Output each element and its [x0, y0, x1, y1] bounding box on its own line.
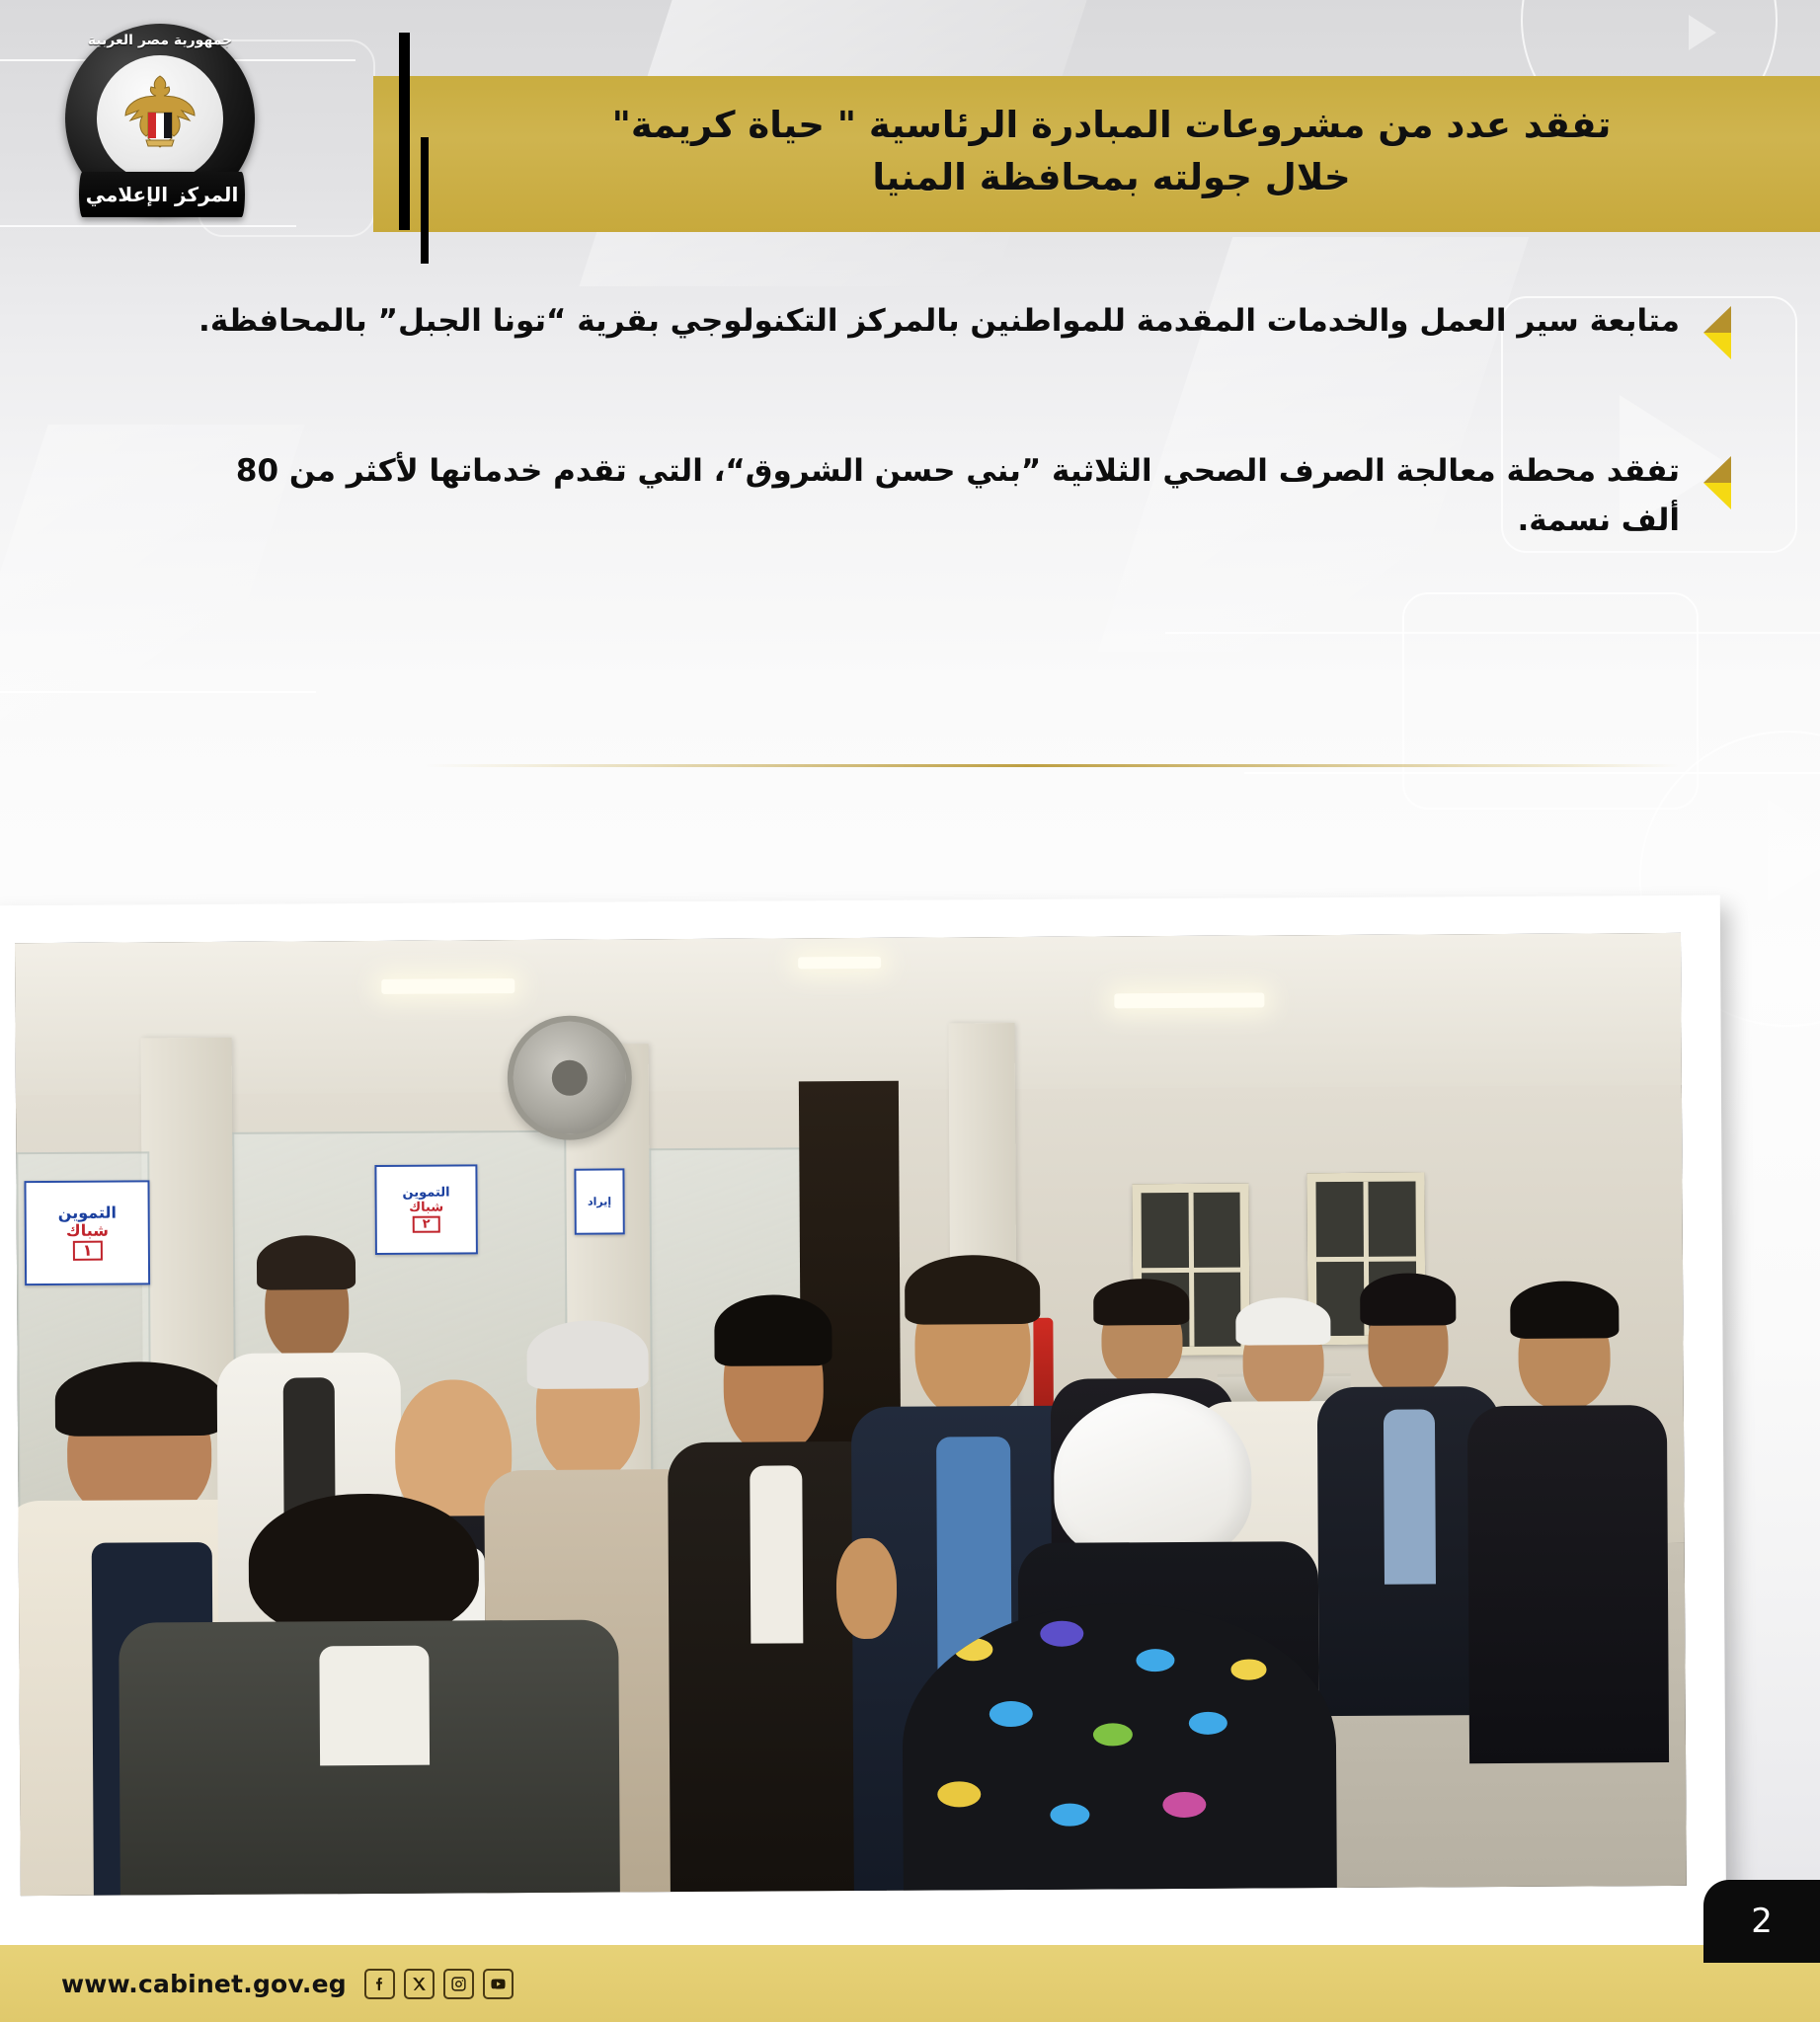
bullet-list: متابعة سير العمل والخدمات المقدمة للمواط… [0, 296, 1820, 545]
sign-window-number: ٢ [413, 1216, 440, 1233]
sign-window-number: ١ [73, 1241, 103, 1261]
logo-ring-top-text: جمهورية مصر العربية [65, 33, 255, 48]
title-line-2: خلال جولته بمحافظة المنيا [872, 152, 1350, 204]
youtube-icon[interactable] [483, 1969, 514, 1999]
page-number-badge: 2 [1703, 1880, 1820, 1963]
photo-frame: التموين شباك ١ التموين شباك ٢ إيراد [0, 895, 1726, 1958]
sign-window-label: شباك [409, 1202, 443, 1214]
person-polka-dot-abaya [902, 1602, 1336, 1891]
footer-bar: www.cabinet.gov.eg [0, 1945, 1820, 2022]
title-line-1: تفقد عدد من مشروعات المبادرة الرئاسية " … [612, 100, 1612, 152]
counter-sign: إيراد [575, 1168, 625, 1235]
page-number: 2 [1751, 1902, 1773, 1941]
sign-service-label: التموين [58, 1205, 117, 1221]
person [1466, 1285, 1669, 1763]
x-twitter-icon[interactable] [404, 1969, 435, 1999]
bullet-text: متابعة سير العمل والخدمات المقدمة للمواط… [198, 296, 1680, 346]
counter-sign: التموين شباك ١ [25, 1181, 150, 1286]
sign-service-label: إيراد [588, 1196, 611, 1206]
person-foreground-back [119, 1492, 621, 1895]
visit-photograph: التموين شباك ١ التموين شباك ٢ إيراد [15, 933, 1687, 1896]
cabinet-media-center-logo: جمهورية مصر العربية رئاسة مجلس الوزراء ا… [55, 22, 268, 234]
title-banner: تفقد عدد من مشروعات المبادرة الرئاسية " … [373, 76, 1820, 232]
logo-banner: المركز الإعلامي [79, 172, 245, 217]
title-accent-bar-tall [399, 33, 410, 230]
sign-service-label: التموين [402, 1187, 449, 1200]
social-links [364, 1969, 514, 1999]
bullet-divider [425, 764, 1679, 767]
title-accent-bar-short [421, 137, 429, 264]
bullet-item: تفقد محطة معالجة الصرف الصحي الثلاثية ”ب… [0, 446, 1820, 545]
bullet-item: متابعة سير العمل والخدمات المقدمة للمواط… [0, 296, 1820, 359]
website-url[interactable]: www.cabinet.gov.eg [61, 1970, 347, 1998]
sign-window-label: شباك [66, 1223, 109, 1239]
eagle-of-saladin-icon [122, 73, 198, 164]
infographic-page: جمهورية مصر العربية رئاسة مجلس الوزراء ا… [0, 0, 1820, 2022]
logo-banner-text: المركز الإعلامي [86, 183, 239, 206]
bullet-text: تفقد محطة معالجة الصرف الصحي الثلاثية ”ب… [198, 446, 1680, 545]
chevron-left-icon [1698, 306, 1731, 359]
ceiling-fan-icon [507, 1016, 632, 1140]
facebook-icon[interactable] [364, 1969, 395, 1999]
instagram-icon[interactable] [443, 1969, 474, 1999]
photo-scene: التموين شباك ١ التموين شباك ٢ إيراد [15, 933, 1687, 1896]
chevron-left-icon [1698, 456, 1731, 509]
